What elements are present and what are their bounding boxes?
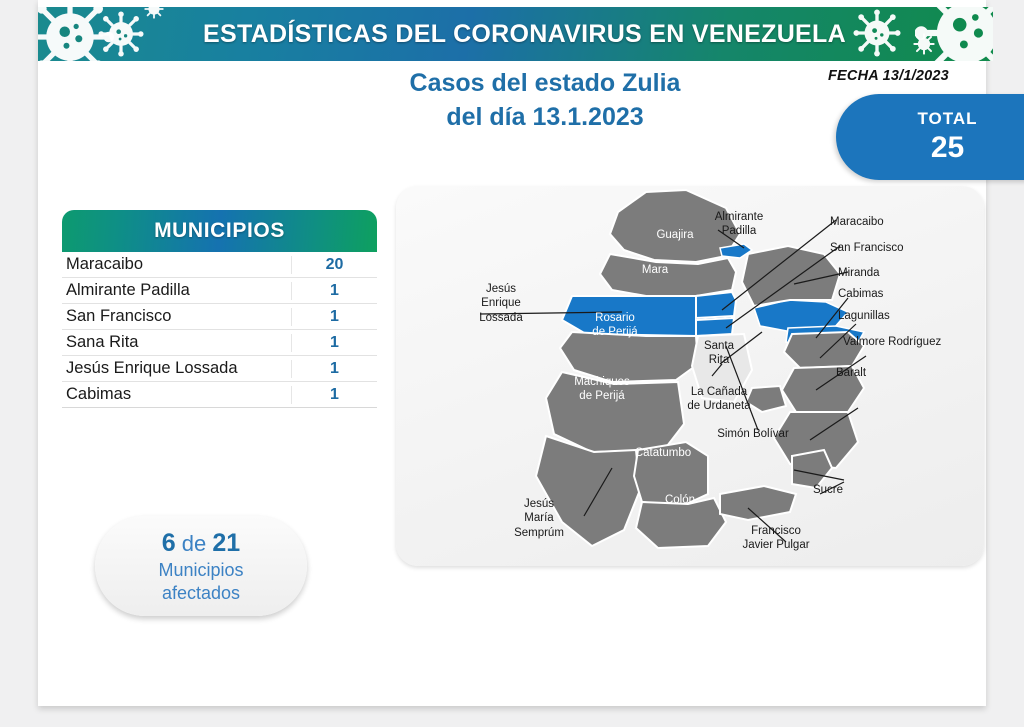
map-label-guajira: Guajira xyxy=(645,228,705,242)
municipio-name: Sana Rita xyxy=(62,333,291,352)
page-title-line1: Casos del estado Zulia xyxy=(330,67,760,101)
map-label-simon-bolivar: Simón Bolívar xyxy=(708,427,798,441)
affected-de: de xyxy=(182,531,206,556)
map-label-miranda: Miranda xyxy=(838,266,928,280)
map-label-catatumbo: Catatumbo xyxy=(626,446,700,460)
municipio-name: Maracaibo xyxy=(62,255,291,274)
map-label-colon: Colón xyxy=(655,493,705,507)
affected-line3: afectados xyxy=(162,582,240,605)
municipio-name: Cabimas xyxy=(62,385,291,404)
map-label-rosario-de-perija: Rosario de Perijá xyxy=(577,311,653,340)
infographic-page: ESTADÍSTICAS DEL CORONAVIRUS EN VENEZUEL… xyxy=(0,0,1024,727)
municipio-name: San Francisco xyxy=(62,307,291,326)
municipio-name: Almirante Padilla xyxy=(62,281,291,300)
page-title: Casos del estado Zulia del día 13.1.2023 xyxy=(330,67,760,134)
banner-title: ESTADÍSTICAS DEL CORONAVIRUS EN VENEZUEL… xyxy=(38,7,993,61)
map-label-valmore-rodriguez: Valmore Rodríguez xyxy=(843,335,968,349)
affected-line2: Municipios xyxy=(158,559,243,582)
region-francisco-javier-pulgar xyxy=(720,486,796,520)
table-body: Maracaibo 20 Almirante Padilla 1 San Fra… xyxy=(62,252,377,408)
affected-count: 6 xyxy=(162,529,176,557)
header-banner: ESTADÍSTICAS DEL CORONAVIRUS EN VENEZUEL… xyxy=(38,7,993,61)
map-label-francisco-javier-pulgar: Francisco Javier Pulgar xyxy=(726,524,826,553)
map-label-san-francisco: San Francisco xyxy=(830,241,940,255)
map-label-maracaibo: Maracaibo xyxy=(830,215,930,229)
region-maracaibo-highlight xyxy=(696,292,736,318)
table-row: Sana Rita 1 xyxy=(62,330,377,356)
page-title-line2: del día 13.1.2023 xyxy=(330,101,760,135)
affected-total: 21 xyxy=(212,529,240,557)
map-label-lagunillas: Lagunillas xyxy=(838,309,928,323)
municipio-count: 1 xyxy=(291,334,377,352)
map-label-baralt: Baralt xyxy=(836,366,916,380)
map-label-almirante-padilla: Almirante Padilla xyxy=(700,210,778,239)
table-header: MUNICIPIOS xyxy=(62,210,377,252)
map-label-la-canada-de-urdaneta: La Cañada de Urdaneta xyxy=(672,385,766,414)
affected-ratio: 6 de 21 xyxy=(162,528,240,560)
total-label: TOTAL xyxy=(917,109,977,129)
municipio-count: 1 xyxy=(291,308,377,326)
map-label-santa-rita: Santa Rita xyxy=(694,339,744,368)
municipio-count: 1 xyxy=(291,386,377,404)
table-row: Maracaibo 20 xyxy=(62,252,377,278)
municipio-count: 1 xyxy=(291,360,377,378)
map-label-machiques-de-perija: Machiques de Perijá xyxy=(560,375,644,404)
map-label-sucre: Sucre xyxy=(806,483,850,497)
map-label-mara: Mara xyxy=(628,263,682,277)
table-row: Cabimas 1 xyxy=(62,382,377,408)
table-row: San Francisco 1 xyxy=(62,304,377,330)
municipio-name: Jesús Enrique Lossada xyxy=(62,359,291,378)
date-label: FECHA 13/1/2023 xyxy=(828,68,949,84)
municipios-table: MUNICIPIOS Maracaibo 20 Almirante Padill… xyxy=(62,210,377,408)
map-label-jesus-maria-semprum: Jesús María Semprúm xyxy=(503,497,575,540)
map-label-cabimas: Cabimas xyxy=(838,287,928,301)
municipio-count: 1 xyxy=(291,282,377,300)
table-row: Almirante Padilla 1 xyxy=(62,278,377,304)
affected-municipalities-card: 6 de 21 Municipios afectados xyxy=(95,516,307,616)
table-row: Jesús Enrique Lossada 1 xyxy=(62,356,377,382)
municipio-count: 20 xyxy=(291,256,377,274)
map-label-jesus-enrique-lossada: Jesús Enrique Lossada xyxy=(468,282,534,325)
